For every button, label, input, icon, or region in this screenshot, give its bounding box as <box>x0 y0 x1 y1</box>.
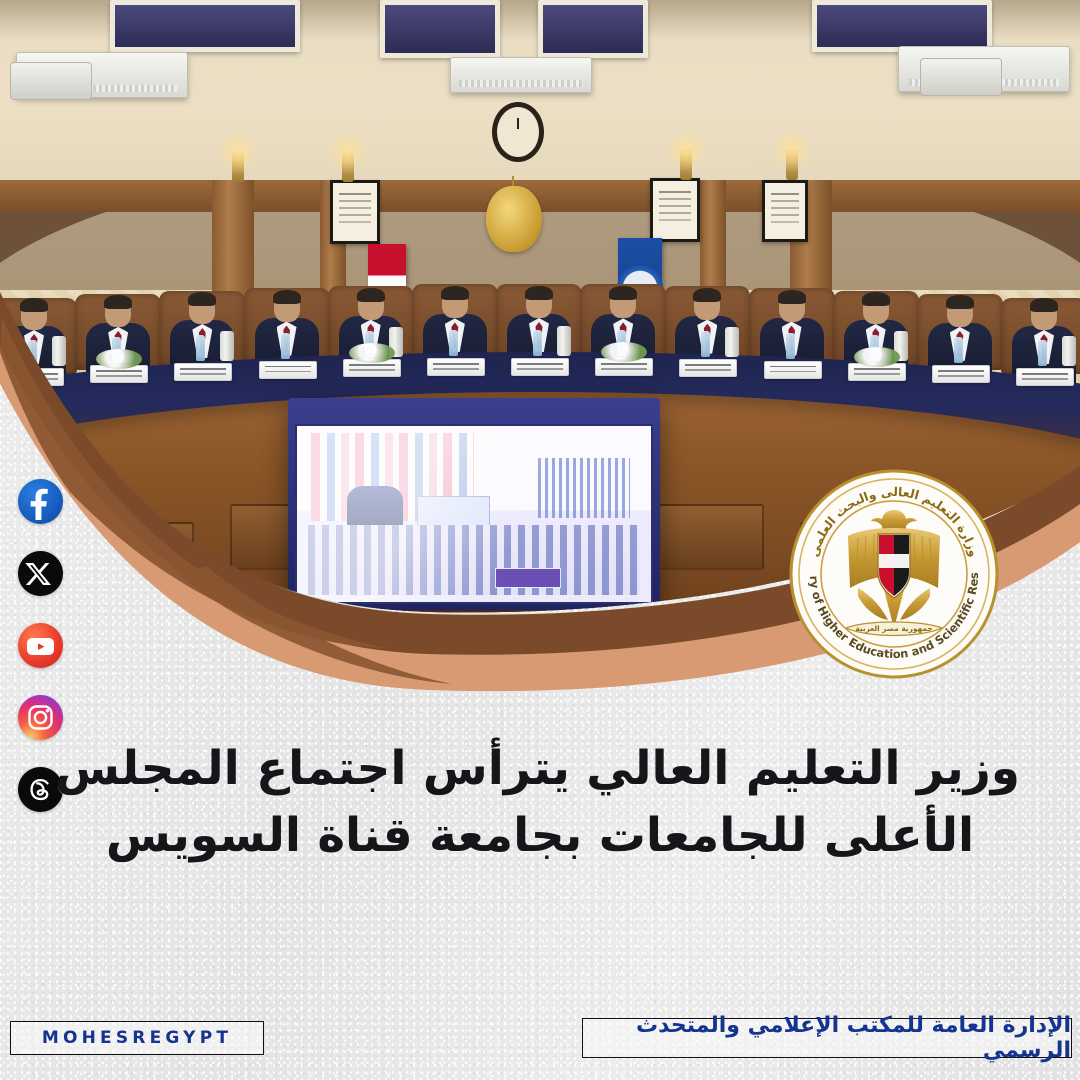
flower-arrangement <box>854 347 900 367</box>
framed-certificate <box>330 180 380 244</box>
window <box>110 0 300 52</box>
nameplate <box>174 363 232 381</box>
water-bottle <box>281 333 290 359</box>
water-bottle <box>701 331 710 357</box>
instagram-icon[interactable] <box>18 695 63 740</box>
nameplate <box>679 359 737 377</box>
thermos <box>52 336 66 366</box>
nameplate <box>764 361 822 379</box>
nameplate <box>511 358 569 376</box>
water-bottle <box>449 330 458 356</box>
nameplate <box>427 358 485 376</box>
water-bottle <box>954 337 963 363</box>
monitor-glare <box>297 426 651 602</box>
thermos <box>1062 336 1076 366</box>
nameplate <box>259 361 317 379</box>
poster-canvas: وزارة التعليم العالى والبحث العلمى Minis… <box>0 0 1080 1080</box>
framed-certificate <box>762 180 808 242</box>
headline-line-2: الأعلى للجامعات بجامعة قناة السويس <box>60 803 1020 870</box>
wall-sconce <box>680 150 692 180</box>
water-bottle <box>196 335 205 361</box>
window <box>380 0 500 58</box>
water-bottle <box>533 330 542 356</box>
thermos <box>220 331 234 361</box>
nameplate <box>932 365 990 383</box>
youtube-icon[interactable] <box>18 623 63 668</box>
window <box>812 0 992 52</box>
table-items <box>0 330 1080 400</box>
page-title: وزير التعليم العالي يترأس اجتماع المجلس … <box>60 736 1020 869</box>
thermos <box>557 326 571 356</box>
air-conditioner <box>450 57 592 93</box>
social-handle-badge: MOHESREGYPT <box>10 1021 264 1055</box>
wall-sconce <box>342 152 354 182</box>
wall-sconce <box>232 152 244 182</box>
window <box>538 0 648 58</box>
thermos <box>725 327 739 357</box>
facebook-icon[interactable] <box>18 479 63 524</box>
water-bottle <box>1038 340 1047 366</box>
egypt-shield <box>878 534 910 598</box>
x-twitter-icon[interactable] <box>18 551 63 596</box>
gold-wall-plaque <box>486 186 542 252</box>
media-office-text: الإدارة العامة للمكتب الإعلامي والمتحدث … <box>583 1013 1071 1063</box>
ministry-seal: وزارة التعليم العالى والبحث العلمى Minis… <box>788 468 1000 680</box>
social-handle-text: MOHESREGYPT <box>42 1028 232 1048</box>
wall-clock <box>492 102 544 162</box>
ceiling-projector <box>920 58 1002 96</box>
media-office-badge: الإدارة العامة للمكتب الإعلامي والمتحدث … <box>582 1018 1072 1058</box>
headline-line-1: وزير التعليم العالي يترأس اجتماع المجلس <box>60 736 1020 803</box>
presentation-monitor <box>288 398 660 610</box>
framed-certificate <box>650 178 700 242</box>
seal-shield-caption: جمهورية مصر العربية <box>855 624 932 633</box>
nameplate <box>1016 368 1074 386</box>
water-bottle <box>786 333 795 359</box>
ceiling-projector <box>10 62 92 100</box>
wall-sconce <box>786 150 798 180</box>
